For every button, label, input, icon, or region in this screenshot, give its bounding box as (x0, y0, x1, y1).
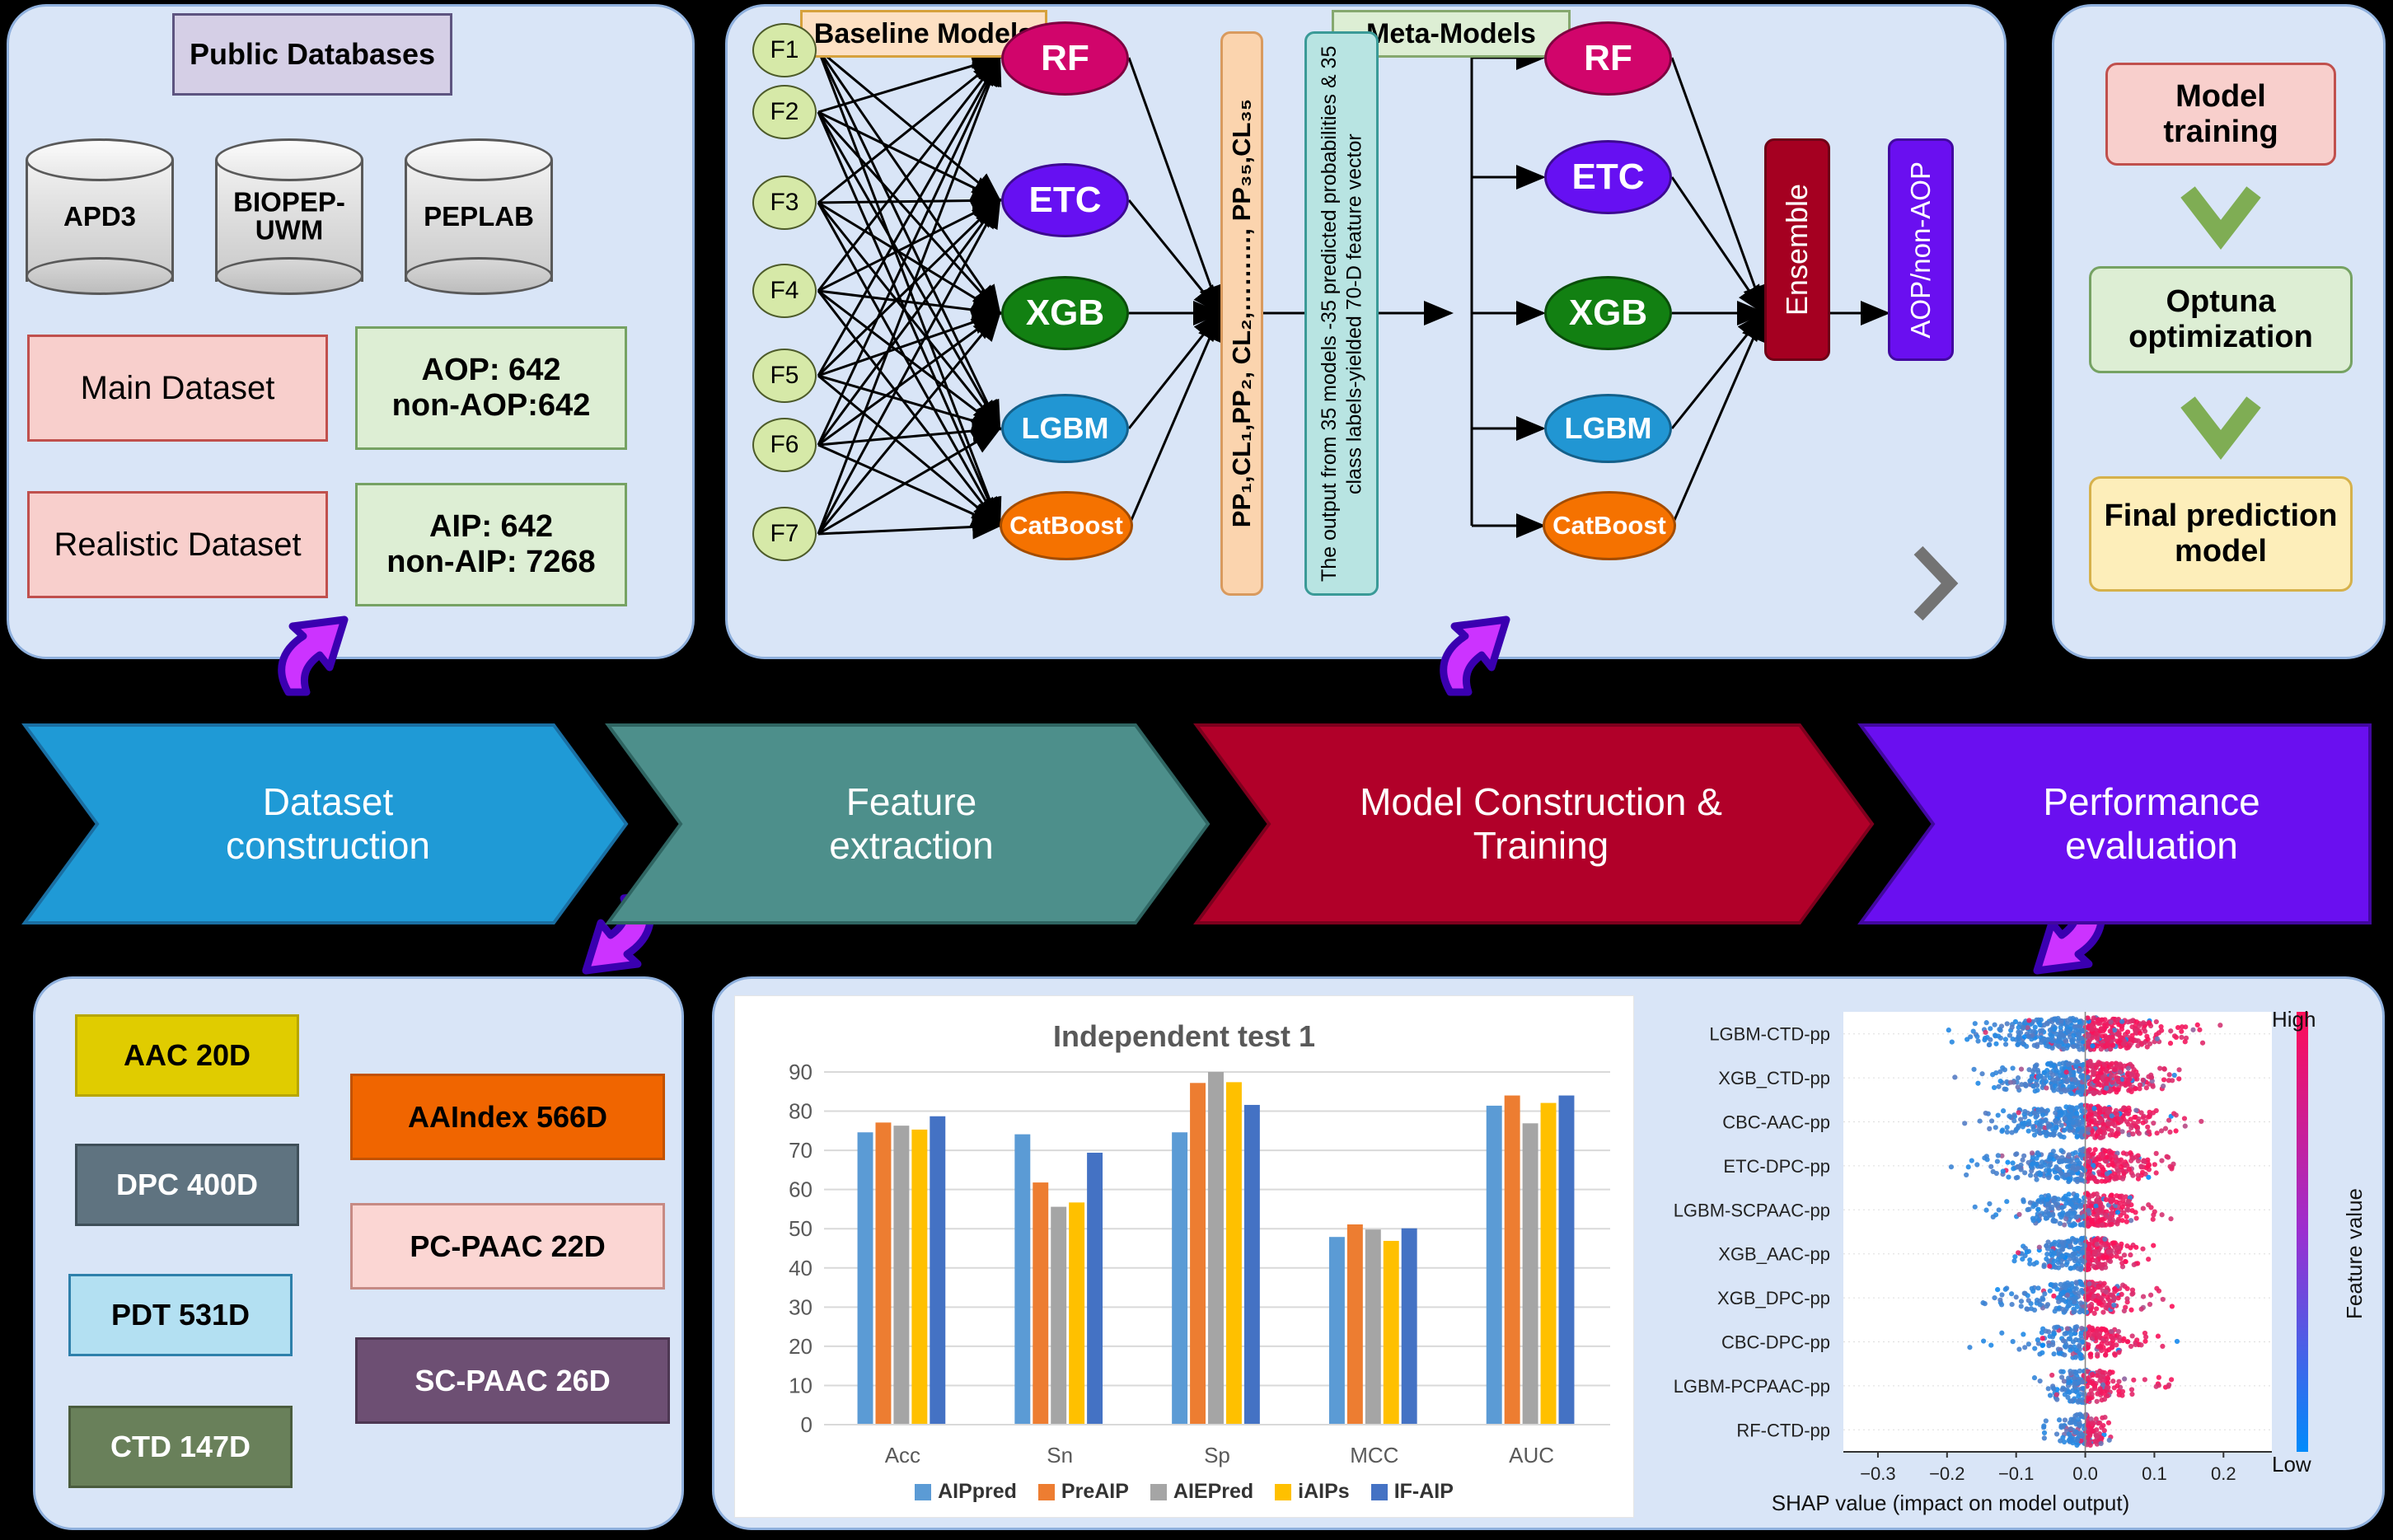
legend-label: PreAIP (1061, 1480, 1129, 1504)
svg-text:20: 20 (789, 1334, 812, 1359)
legend-item: IF-AIP (1371, 1480, 1454, 1504)
svg-text:Sn: Sn (1047, 1443, 1073, 1467)
legend-swatch (1371, 1484, 1388, 1500)
svg-text:−0.2: −0.2 (1929, 1463, 1965, 1484)
shap-plot-svg: LGBM-CTD-ppXGB_CTD-ppCBC-AAC-ppETC-DPC-p… (1646, 990, 2371, 1523)
svg-text:LGBM-PCPAAC-pp: LGBM-PCPAAC-pp (1674, 1376, 1830, 1397)
feature-box-aac: AAC 20D (75, 1014, 299, 1097)
shap-plot-container: LGBM-CTD-ppXGB_CTD-ppCBC-AAC-ppETC-DPC-p… (1646, 990, 2371, 1523)
legend-item: AIEPred (1150, 1480, 1253, 1504)
feature-box-pc-paac: PC-PAAC 22D (350, 1203, 665, 1290)
legend-swatch (1038, 1484, 1055, 1500)
legend-swatch (915, 1484, 931, 1500)
feature-box-aaindex: AAIndex 566D (350, 1074, 665, 1160)
svg-text:80: 80 (789, 1099, 812, 1124)
svg-text:LGBM-SCPAAC-pp: LGBM-SCPAAC-pp (1674, 1200, 1830, 1220)
pipeline-stage-feature-extraction[interactable]: Feature extraction (681, 725, 1142, 923)
database-label: APD3 (26, 203, 174, 231)
bar-chart-legend: AIPpredPreAIPAIEPrediAIPsIF-AIP (735, 1480, 1633, 1504)
legend-label: AIEPred (1173, 1480, 1253, 1504)
svg-text:40: 40 (789, 1256, 812, 1280)
svg-text:30: 30 (789, 1294, 812, 1319)
svg-text:50: 50 (789, 1216, 812, 1241)
svg-text:AUC: AUC (1509, 1443, 1554, 1467)
shap-colorbar-low-label: Low (2272, 1452, 2311, 1477)
svg-text:0.1: 0.1 (2142, 1463, 2167, 1484)
shap-colorbar-label: Feature value (2342, 1188, 2367, 1319)
pipeline-stage-model-construction[interactable]: Model Construction & Training (1269, 725, 1813, 923)
legend-swatch (1150, 1484, 1167, 1500)
legend-label: iAIPs (1298, 1480, 1350, 1504)
svg-text:LGBM-CTD-pp: LGBM-CTD-pp (1709, 1024, 1830, 1045)
database-label: PEPLAB (405, 203, 553, 231)
svg-text:0: 0 (801, 1412, 812, 1437)
svg-text:RF-CTD-pp: RF-CTD-pp (1736, 1420, 1830, 1440)
svg-text:XGB_AAC-pp: XGB_AAC-pp (1718, 1244, 1830, 1265)
svg-text:MCC: MCC (1350, 1443, 1398, 1467)
legend-label: AIPpred (938, 1480, 1017, 1504)
database-label: BIOPEP- UWM (215, 189, 363, 246)
svg-text:Acc: Acc (885, 1443, 920, 1467)
feature-extraction-panel: AAC 20D DPC 400D PDT 531D CTD 147D AAInd… (33, 976, 684, 1530)
feature-box-ctd: CTD 147D (68, 1406, 293, 1488)
svg-text:CBC-AAC-pp: CBC-AAC-pp (1722, 1112, 1830, 1133)
svg-text:0.2: 0.2 (2211, 1463, 2236, 1484)
svg-text:60: 60 (789, 1177, 812, 1202)
results-panel: Independent test 1 0102030405060708090Ac… (712, 976, 2385, 1530)
legend-swatch (1275, 1484, 1291, 1500)
svg-text:10: 10 (789, 1373, 812, 1397)
feature-box-dpc: DPC 400D (75, 1144, 299, 1226)
legend-item: iAIPs (1275, 1480, 1350, 1504)
svg-text:ETC-DPC-pp: ETC-DPC-pp (1723, 1156, 1830, 1177)
svg-text:CBC-DPC-pp: CBC-DPC-pp (1721, 1332, 1830, 1353)
shap-colorbar-high-label: High (2272, 1007, 2316, 1032)
pipeline-stage-performance-evaluation[interactable]: Performance evaluation (1933, 725, 2370, 923)
svg-text:0.0: 0.0 (2072, 1463, 2098, 1484)
legend-item: PreAIP (1038, 1480, 1129, 1504)
svg-text:Sp: Sp (1204, 1443, 1230, 1467)
shap-xlabel: SHAP value (impact on model output) (1703, 1491, 2198, 1516)
svg-text:90: 90 (789, 1060, 812, 1084)
legend-label: IF-AIP (1394, 1480, 1454, 1504)
svg-text:70: 70 (789, 1138, 812, 1163)
svg-text:XGB_DPC-pp: XGB_DPC-pp (1717, 1288, 1830, 1308)
feature-box-sc-paac: SC-PAAC 26D (355, 1337, 670, 1424)
bar-chart-container: Independent test 1 0102030405060708090Ac… (734, 995, 1634, 1518)
svg-text:XGB_CTD-pp: XGB_CTD-pp (1718, 1068, 1830, 1088)
feature-box-pdt: PDT 531D (68, 1274, 293, 1356)
bar-chart-svg: 0102030405060708090AccSnSpMCCAUC (735, 996, 1633, 1517)
legend-item: AIPpred (915, 1480, 1017, 1504)
svg-text:−0.1: −0.1 (1998, 1463, 2034, 1484)
pipeline-stage-dataset-construction[interactable]: Dataset construction (97, 725, 559, 923)
svg-text:−0.3: −0.3 (1860, 1463, 1895, 1484)
